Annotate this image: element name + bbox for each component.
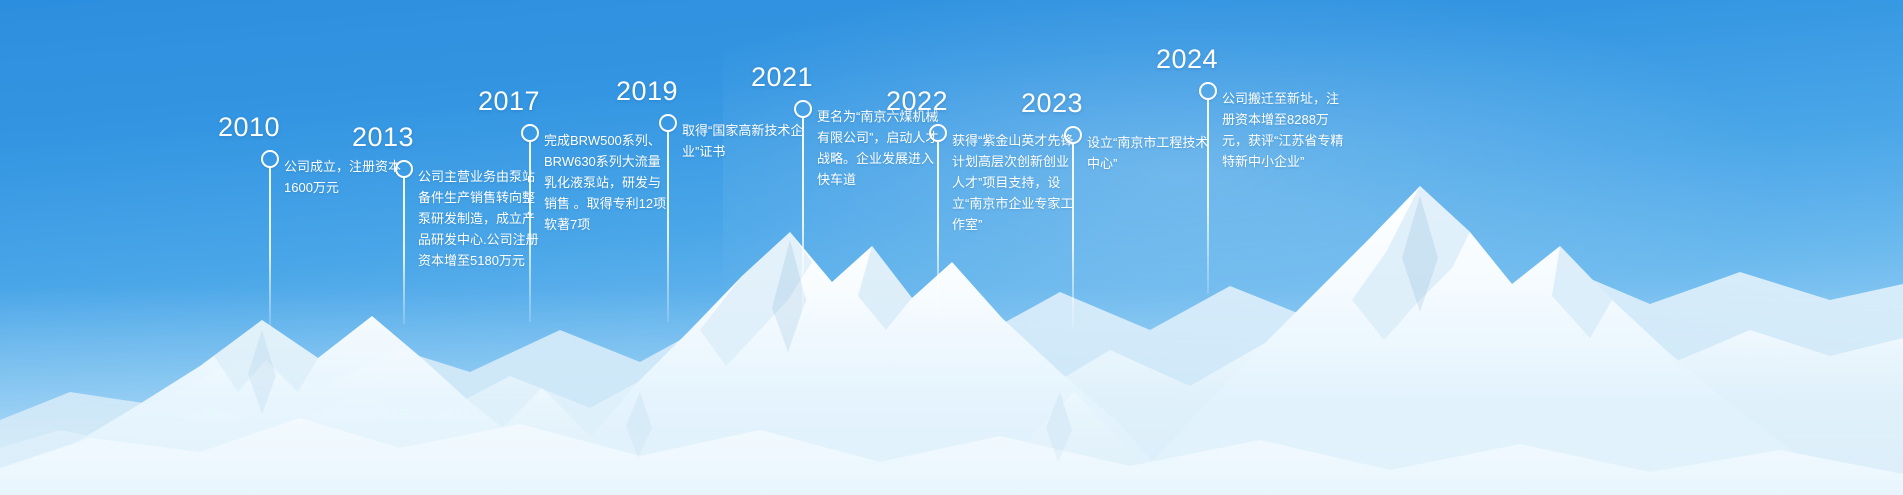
milestone-year-2013: 2013 (352, 122, 502, 153)
milestone-year-2010: 2010 (218, 112, 368, 143)
milestone-year-2023: 2023 (1021, 88, 1171, 119)
milestone-stem-2019 (667, 130, 669, 322)
milestone-description-2023: 设立“南京市工程技术中心” (1087, 132, 1215, 174)
milestone-stem-2023 (1072, 142, 1074, 328)
milestone-stem-2022 (937, 140, 939, 316)
milestone-stem-2024 (1207, 98, 1209, 294)
milestone-year-2024: 2024 (1156, 44, 1306, 75)
milestone-description-2013: 公司主营业务由泵站备件生产销售转向整泵研发制造，成立产品研发中心.公司注册资本增… (418, 166, 542, 271)
milestone-stem-2021 (802, 116, 804, 316)
milestone-stem-2013 (403, 176, 405, 324)
timeline-infographic: 2010 公司成立，注册资本1600万元 2013 公司主营业务由泵站备件生产销… (0, 0, 1903, 495)
milestone-stem-2010 (269, 166, 271, 326)
milestone-stem-2017 (529, 140, 531, 322)
milestone-year-2019: 2019 (616, 76, 766, 107)
milestone-description-2022: 获得“紫金山英才先锋计划高层次创新创业人才”项目支持，设立“南京市企业专家工作室… (952, 130, 1076, 235)
milestone-description-2024: 公司搬迁至新址，注册资本增至8288万元，获评“江苏省专精特新中小企业” (1222, 88, 1348, 172)
milestone-description-2019: 取得“国家高新技术企业”证书 (682, 120, 806, 162)
timeline-track: 2010 公司成立，注册资本1600万元 2013 公司主营业务由泵站备件生产销… (0, 0, 1903, 495)
milestone-year-2022: 2022 (886, 86, 1036, 117)
milestone-description-2010: 公司成立，注册资本1600万元 (284, 156, 412, 198)
milestone-year-2021: 2021 (751, 62, 901, 93)
milestone-description-2021: 更名为“南京六煤机械有限公司”，启动人才战略。企业发展进入快车道 (817, 106, 943, 190)
milestone-description-2017: 完成BRW500系列、BRW630系列大流量乳化液泵站，研发与销售 。取得专利1… (544, 130, 670, 235)
milestone-year-2017: 2017 (478, 86, 628, 117)
